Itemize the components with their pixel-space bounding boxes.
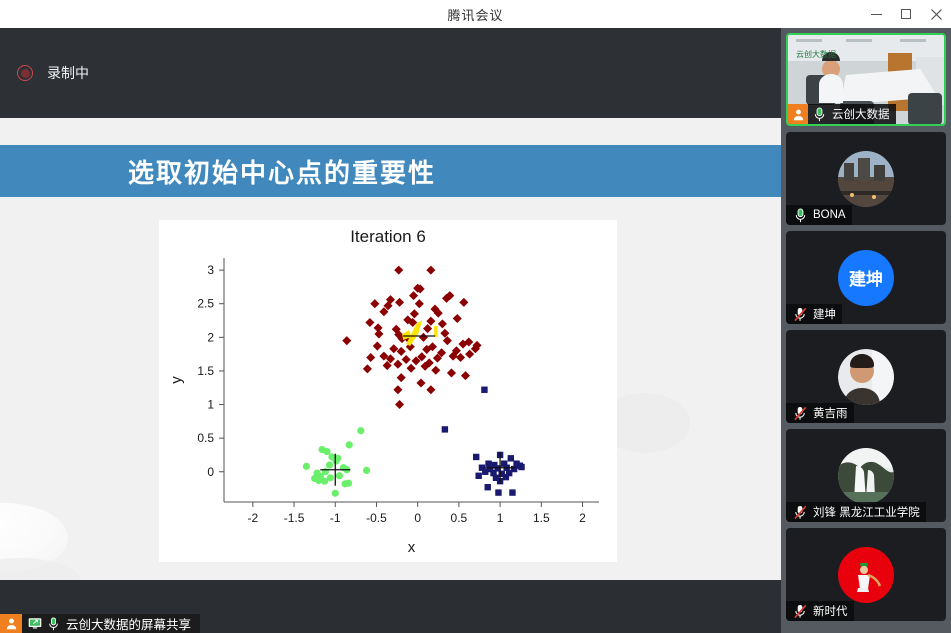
data-point	[389, 344, 398, 353]
data-point	[426, 266, 435, 275]
participant-name: 建坤	[813, 306, 836, 322]
minimize-icon	[871, 14, 882, 15]
x-tick-label: -0.5	[366, 511, 387, 525]
close-icon	[931, 9, 942, 20]
data-point	[475, 473, 481, 479]
data-point	[453, 314, 462, 323]
data-point	[443, 336, 452, 345]
data-point	[363, 467, 370, 474]
data-point	[438, 319, 447, 328]
scatter-chart: Iteration 6-2-1.5-1-0.500.511.5200.511.5…	[159, 220, 617, 562]
data-point	[394, 266, 403, 275]
participant-badge-icon	[788, 104, 808, 124]
chart-title: Iteration 6	[350, 227, 426, 246]
microphone-icon[interactable]	[811, 107, 828, 122]
x-tick-label: 0.5	[451, 511, 468, 525]
data-point	[332, 490, 339, 497]
microphone-icon	[48, 617, 59, 631]
microphone-muted-icon[interactable]	[792, 604, 809, 619]
participant-name: BONA	[813, 209, 846, 221]
data-point	[395, 298, 404, 307]
participant-name: 新时代	[813, 603, 848, 619]
participant-name: 黄吉雨	[813, 405, 848, 421]
shared-screen-area: 录制中 选取初始中心点的重要性 Iteration 6-2-1.5-1-0.50…	[0, 28, 781, 633]
highlighter-tick	[434, 326, 438, 337]
microphone-muted-icon	[793, 604, 808, 619]
slide-decoration-ellipse-2	[0, 558, 80, 580]
x-tick-label: 0	[414, 511, 421, 525]
data-point	[440, 329, 449, 338]
slide-title: 选取初始中心点的重要性	[128, 153, 436, 190]
person-icon	[5, 617, 18, 630]
y-tick-label: 2	[207, 330, 214, 344]
data-point	[485, 484, 491, 490]
screen-share-status-text: 云创大数据的屏幕共享	[66, 614, 191, 633]
data-point	[503, 474, 509, 480]
data-point	[342, 480, 349, 487]
data-point	[395, 400, 404, 409]
data-point	[508, 455, 514, 461]
microphone-icon[interactable]	[792, 208, 809, 223]
participant-tile[interactable]: BONA	[786, 132, 946, 225]
microphone-muted-icon[interactable]	[792, 406, 809, 421]
participant-name-pill: 新时代	[786, 601, 854, 621]
participant-name-pill: BONA	[786, 205, 852, 225]
data-point	[415, 299, 424, 308]
recording-label: 录制中	[47, 63, 89, 83]
series-cluster-blue	[442, 387, 525, 496]
microphone-muted-icon[interactable]	[792, 505, 809, 520]
microphone-muted-icon[interactable]	[792, 307, 809, 322]
data-point	[410, 309, 419, 318]
recording-indicator-icon	[17, 65, 33, 81]
participant-tile[interactable]: 新时代	[786, 528, 946, 621]
participant-name-pill: 建坤	[786, 304, 842, 324]
data-point	[442, 426, 448, 432]
data-point	[370, 299, 379, 308]
data-point	[416, 378, 425, 387]
data-point	[373, 342, 382, 351]
participant-tile[interactable]: 云创大数据云创大数据	[786, 33, 946, 126]
participant-name-pill: 黄吉雨	[786, 403, 854, 423]
data-point	[397, 347, 406, 356]
data-point	[473, 454, 479, 460]
x-tick-label: -2	[248, 511, 259, 525]
data-point	[318, 446, 325, 453]
participant-tile[interactable]: 建坤建坤	[786, 231, 946, 324]
y-axis-label: y	[168, 376, 185, 384]
data-point	[365, 318, 374, 327]
data-point	[336, 472, 343, 479]
cartoon-figure-icon	[846, 555, 886, 595]
data-point	[321, 478, 328, 485]
data-point	[397, 373, 406, 382]
x-axis-label: x	[408, 539, 416, 556]
tencent-meeting-window: 腾讯会议 录制中 选取初始中心点的重要性 I	[0, 0, 951, 633]
y-tick-label: 1	[207, 398, 214, 412]
series-cluster-green	[303, 427, 370, 497]
microphone-muted-icon	[793, 307, 808, 322]
x-tick-label: 1	[497, 511, 504, 525]
participant-name: 云创大数据	[832, 106, 890, 122]
title-bar: 腾讯会议	[0, 0, 951, 28]
window-controls	[861, 0, 951, 28]
data-point	[461, 371, 470, 380]
data-point	[346, 441, 353, 448]
minimize-button[interactable]	[861, 0, 891, 28]
maximize-button[interactable]	[891, 0, 921, 28]
participants-sidebar[interactable]: 云创大数据云创大数据BONA建坤建坤黄吉雨刘锋 黑龙江工业学院新时代	[781, 28, 951, 633]
data-point	[518, 464, 524, 470]
y-tick-label: 0	[207, 465, 214, 479]
screen-share-status-bar: 云创大数据的屏幕共享	[0, 614, 200, 633]
y-tick-label: 2.5	[197, 297, 214, 311]
data-point	[431, 366, 440, 375]
microphone-icon	[813, 107, 826, 122]
svg-text:云创大数据: 云创大数据	[796, 49, 836, 59]
data-point	[426, 385, 435, 394]
participant-name: 刘锋 黑龙江工业学院	[813, 504, 920, 520]
microphone-muted-icon	[793, 505, 808, 520]
data-point	[357, 427, 364, 434]
presentation-slide: 选取初始中心点的重要性 Iteration 6-2-1.5-1-0.500.51…	[0, 118, 781, 580]
data-point	[509, 489, 515, 495]
person-icon	[792, 108, 805, 121]
data-point	[459, 298, 468, 307]
slide-header-banner: 选取初始中心点的重要性	[0, 145, 781, 197]
close-button[interactable]	[921, 0, 951, 28]
data-point	[447, 368, 456, 377]
data-point	[393, 385, 402, 394]
y-tick-label: 3	[207, 263, 214, 277]
participant-name-pill: 云创大数据	[788, 104, 896, 124]
data-point	[374, 329, 383, 338]
x-tick-label: 2	[579, 511, 586, 525]
data-point	[363, 364, 372, 373]
data-point	[366, 353, 375, 362]
participant-name-pill: 刘锋 黑龙江工业学院	[786, 502, 926, 522]
maximize-icon	[901, 9, 911, 19]
avatar-initials: 建坤	[849, 265, 883, 290]
data-point	[481, 387, 487, 393]
window-title: 腾讯会议	[447, 5, 503, 24]
x-tick-label: -1	[330, 511, 341, 525]
participant-tile[interactable]: 黄吉雨	[786, 330, 946, 423]
data-point	[342, 336, 351, 345]
screen-share-icon	[28, 617, 42, 630]
y-tick-label: 0.5	[197, 431, 214, 445]
microphone-muted-icon	[793, 406, 808, 421]
data-point	[402, 355, 411, 364]
recording-strip: 录制中	[0, 28, 781, 118]
data-point	[328, 453, 335, 460]
data-point	[393, 360, 402, 369]
participant-tile[interactable]: 刘锋 黑龙江工业学院	[786, 429, 946, 522]
data-point	[465, 350, 474, 359]
data-point	[495, 489, 501, 495]
data-point	[409, 291, 418, 300]
data-point	[407, 364, 416, 373]
scatter-chart-svg: Iteration 6-2-1.5-1-0.500.511.5200.511.5…	[159, 220, 617, 562]
screen-share-status-body: 云创大数据的屏幕共享	[22, 614, 200, 633]
y-tick-label: 1.5	[197, 364, 214, 378]
data-point	[326, 461, 333, 468]
data-point	[303, 463, 310, 470]
data-point	[419, 333, 428, 342]
microphone-icon	[794, 208, 807, 223]
participant-badge-icon	[0, 614, 22, 633]
x-tick-label: 1.5	[533, 511, 550, 525]
data-point	[482, 469, 488, 475]
x-tick-label: -1.5	[284, 511, 305, 525]
